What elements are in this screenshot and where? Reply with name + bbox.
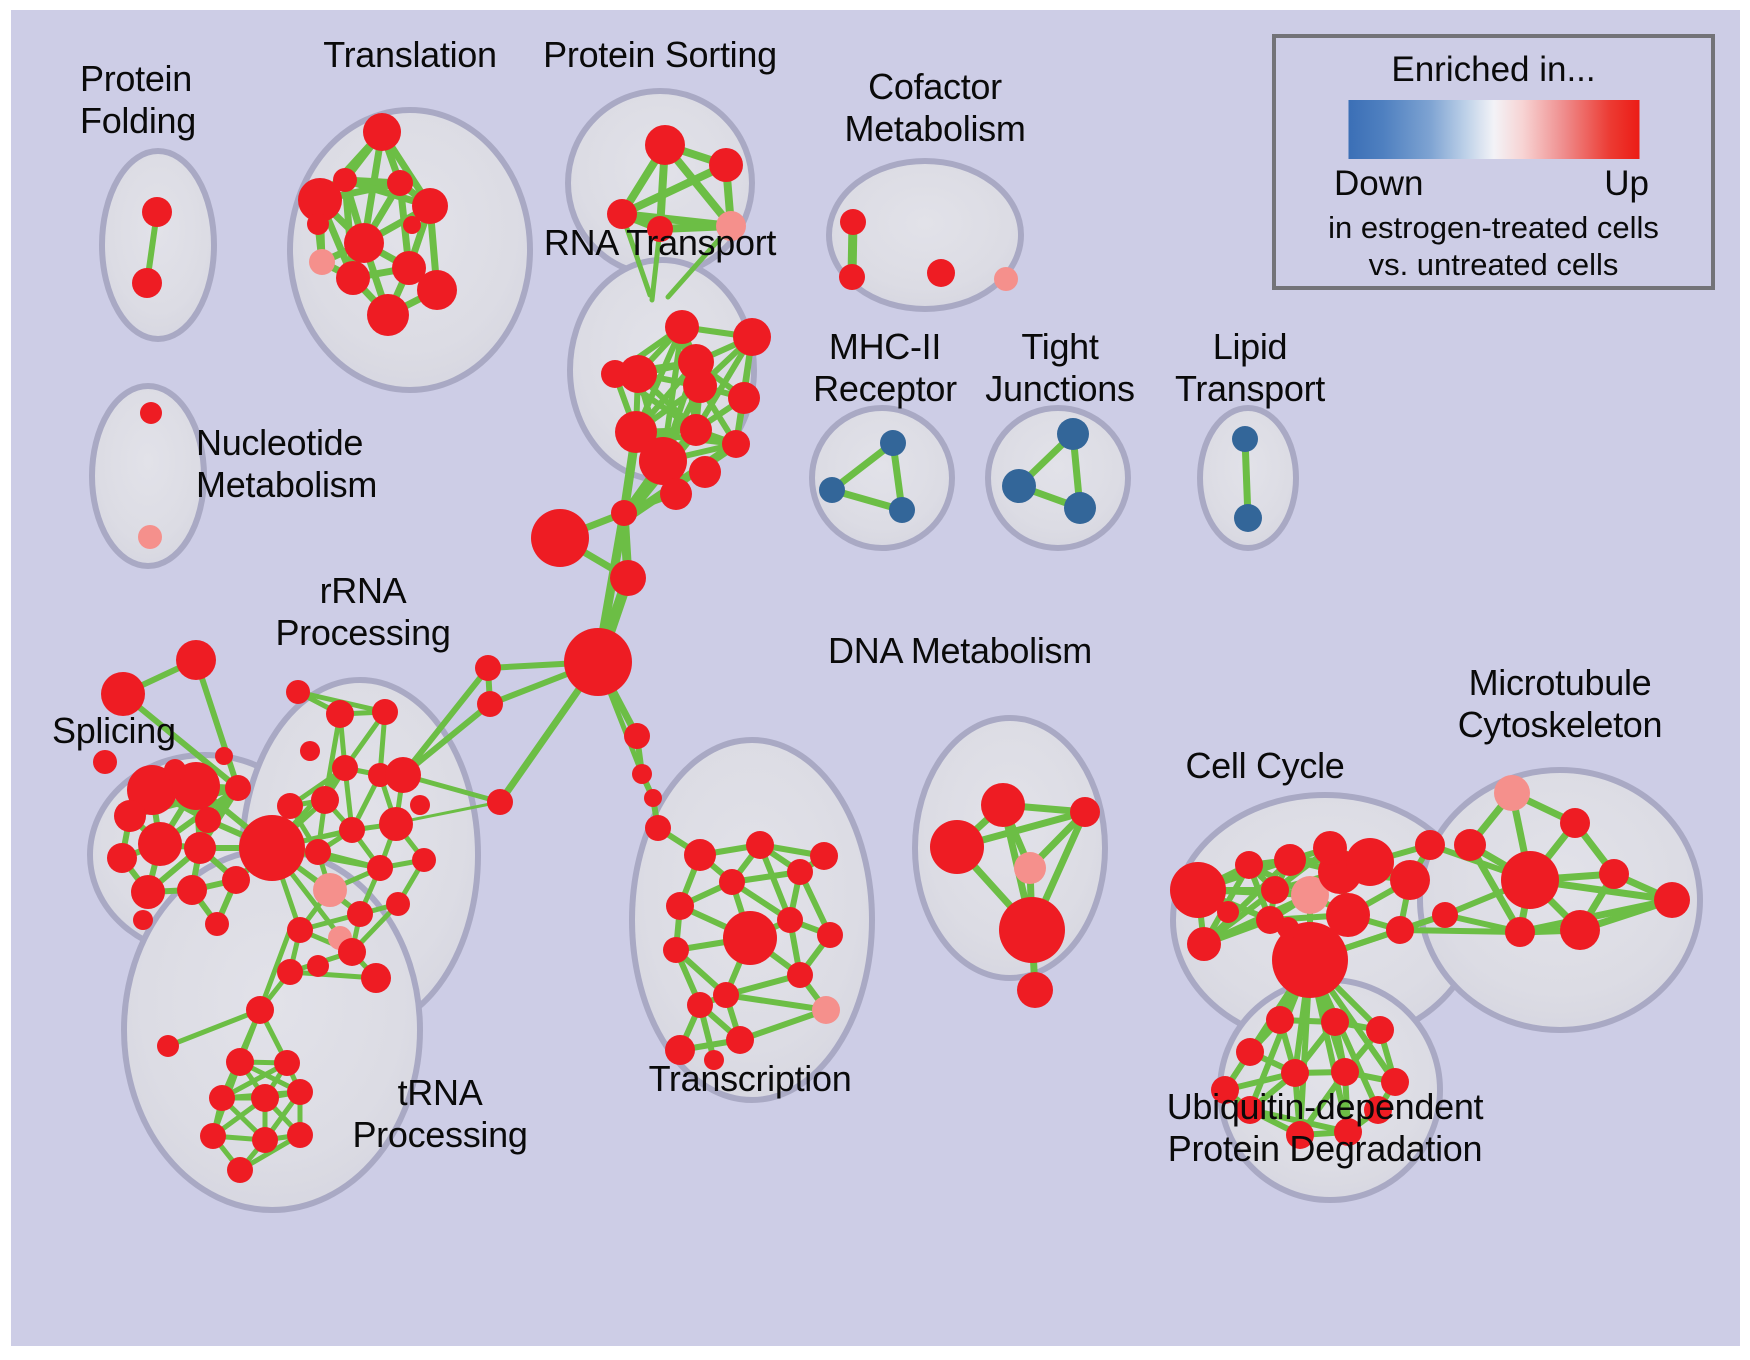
cluster-label-protein-sorting: Protein Sorting — [500, 34, 820, 76]
cluster-label-rna-transport: RNA Transport — [500, 222, 820, 264]
legend-title: Enriched in... — [1276, 50, 1711, 90]
cluster-label-protein-folding: Protein Folding — [80, 58, 280, 142]
hull-protein-folding — [102, 151, 214, 339]
cluster-label-lipid-transport: Lipid Transport — [1135, 326, 1365, 410]
cluster-label-rrna-processing: rRNA Processing — [248, 570, 478, 654]
legend-high-label: Up — [1604, 164, 1649, 204]
legend-subtitle-line1: in estrogen-treated cells — [1276, 210, 1711, 246]
cluster-label-trna-processing: tRNA Processing — [320, 1072, 560, 1156]
cluster-label-dna-metabolism: DNA Metabolism — [800, 630, 1120, 672]
cluster-label-cofactor-metabolism: Cofactor Metabolism — [790, 66, 1080, 150]
enrichment-map-figure: Protein Folding Translation Protein Sort… — [0, 0, 1750, 1360]
legend-panel: Enriched in... Down Up in estrogen-treat… — [1272, 34, 1715, 290]
cluster-label-microtubule-cytoskeleton: Microtubule Cytoskeleton — [1390, 662, 1730, 746]
cluster-label-splicing: Splicing — [52, 710, 232, 752]
legend-color-gradient-bar — [1348, 100, 1639, 159]
legend-low-label: Down — [1334, 164, 1423, 204]
cluster-label-cell-cycle: Cell Cycle — [1140, 745, 1390, 787]
legend-subtitle-line2: vs. untreated cells — [1276, 247, 1711, 283]
cluster-label-ubiquitin-degradation: Ubiquitin-dependent Protein Degradation — [1115, 1086, 1535, 1170]
cluster-label-nucleotide-metabolism: Nucleotide Metabolism — [196, 422, 476, 506]
cluster-label-transcription: Transcription — [600, 1058, 900, 1100]
